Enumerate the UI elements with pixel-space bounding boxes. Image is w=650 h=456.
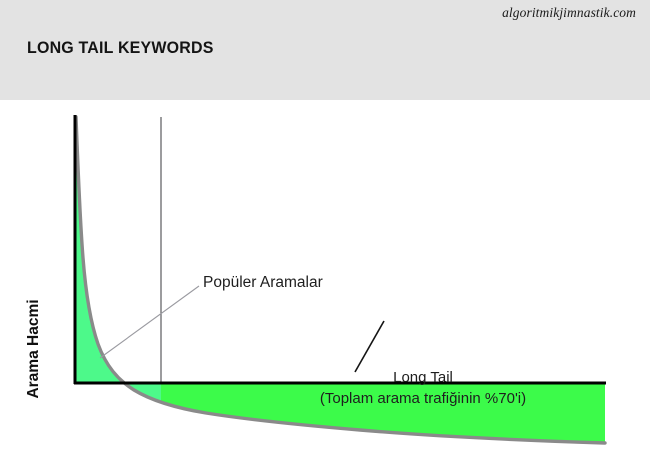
- page-title: LONG TAIL KEYWORDS: [27, 38, 214, 58]
- y-axis-label: Arama Hacmi: [25, 289, 43, 409]
- annotation-long-tail-line2: (Toplam arama trafiğinin %70'i): [293, 388, 553, 409]
- popular-leader-line: [100, 286, 199, 358]
- annotation-long-tail: Long Tail (Toplam arama trafiğinin %70'i…: [293, 367, 553, 410]
- annotation-popular-searches: Popüler Aramalar: [203, 274, 323, 292]
- annotation-long-tail-line1: Long Tail: [293, 367, 553, 388]
- site-watermark: algoritmikjimnastik.com: [502, 5, 636, 21]
- longtail-leader-line: [355, 321, 384, 372]
- chart-area: Popüler Aramalar Long Tail (Toplam arama…: [0, 100, 650, 456]
- infographic-page: algoritmikjimnastik.com LONG TAIL KEYWOR…: [0, 0, 650, 456]
